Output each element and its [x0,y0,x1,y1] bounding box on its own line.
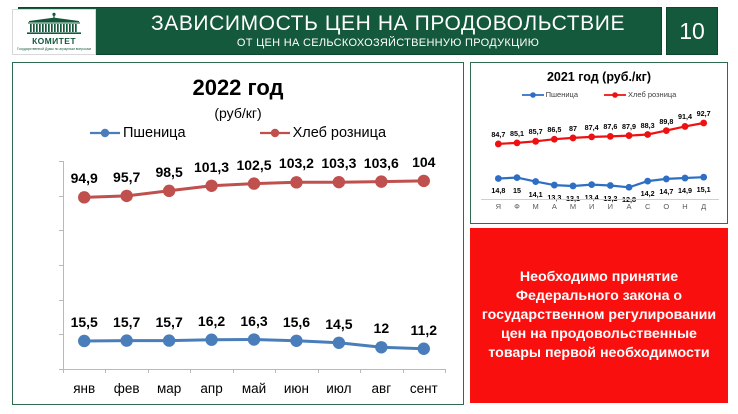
x-axis-tick [105,369,106,373]
government-building-icon [21,12,87,36]
data-label: 103,3 [321,155,356,171]
x-axis-tick [233,369,234,373]
x-axis-label: июн [284,381,309,396]
x-axis-tick [275,369,276,373]
x-axis-tick [148,369,149,373]
data-label: 92,7 [697,109,711,118]
data-label: 15,1 [697,185,711,194]
x-axis-label: А [626,202,631,211]
data-label: 14,8 [491,186,505,195]
chart-2021-title: 2021 год (руб./кг) [471,70,727,84]
y-axis-tick [59,230,63,231]
x-axis-label: июл [326,381,351,396]
legend-line-marker-icon [522,91,544,99]
data-label: 86,5 [547,125,561,134]
data-label: 15,6 [283,314,310,330]
data-label: 14,2 [641,189,655,198]
data-label: 89,8 [659,117,673,126]
data-label: 87,6 [603,122,617,131]
legend-line-marker-icon [604,91,626,99]
x-axis-tick [63,369,64,373]
chart-2021-axis-line [481,199,719,200]
data-label: 11,2 [411,322,437,338]
page-number-box: 10 [666,7,718,55]
logo-name: КОМИТЕТ [32,37,76,46]
data-label: 14,9 [678,186,692,195]
y-axis-tick [59,334,63,335]
chart-2021-series-svg [489,109,713,197]
data-label: 15 [513,186,521,195]
data-label: 15,5 [71,314,98,330]
x-axis-label: Н [682,202,687,211]
data-label: 87 [569,124,577,133]
x-axis-label: Д [701,202,706,211]
x-axis-label: авг [372,381,392,396]
data-label: 85,7 [529,127,543,136]
data-label: 103,6 [364,155,399,171]
y-axis-tick [59,300,63,301]
data-label: 16,2 [198,313,225,329]
x-axis-label: Я [496,202,501,211]
data-label: 14,5 [325,316,352,332]
data-label: 13,3 [547,193,561,202]
chart-2022-plot: 15,515,715,716,216,315,614,51211,294,995… [63,161,445,369]
legend-label-wheat-2021: Пшеница [546,90,578,99]
data-label: 16,3 [240,313,267,329]
x-axis-label: И [589,202,594,211]
legend-item-bread: Хлеб розница [260,125,386,141]
legend-line-marker-icon [90,127,120,139]
x-axis-label: М [570,202,576,211]
x-axis-tick [403,369,404,373]
legend-line-marker-icon [260,127,290,139]
x-axis-tick [360,369,361,373]
page-number: 10 [679,18,705,45]
legend-item-bread-2021: Хлеб розница [604,90,676,99]
chart-2021-legend: Пшеница Хлеб розница [471,90,727,99]
x-axis-label: апр [200,381,222,396]
x-axis-tick [445,369,446,373]
data-label: 15,7 [155,314,182,330]
data-label: 103,2 [279,155,314,171]
data-label: 95,7 [113,169,140,185]
page-title: ЗАВИСИМОСТЬ ЦЕН НА ПРОДОВОЛЬСТВИЕ [151,13,625,35]
callout-box: Необходимо принятие Федерального закона … [470,228,728,403]
chart-2022-title: 2022 год [13,75,463,101]
data-label: 94,9 [71,170,98,186]
chart-2021: 2021 год (руб./кг) Пшеница Хлеб розница … [470,62,728,224]
x-axis-label: май [242,381,266,396]
x-axis-tick [318,369,319,373]
page-subtitle: ОТ ЦЕН НА СЕЛЬСКОХОЗЯЙСТВЕННУЮ ПРОДУКЦИЮ [237,37,539,49]
committee-logo: КОМИТЕТ Государственной Думы по аграрным… [12,9,96,55]
x-axis-label: С [645,202,650,211]
legend-item-wheat-2021: Пшеница [522,90,578,99]
x-axis-label: янв [73,381,95,396]
y-axis-tick [59,196,63,197]
x-axis-label: мар [157,381,181,396]
data-label: 98,5 [155,164,182,180]
logo-subtitle: Государственной Думы по аграрным вопроса… [17,47,91,51]
data-label: 15,7 [113,314,140,330]
data-label: 101,3 [194,159,229,175]
x-axis-label: А [552,202,557,211]
data-label: 84,7 [491,130,505,139]
callout-text: Необходимо принятие Федерального закона … [480,268,718,363]
y-axis-tick [59,161,63,162]
data-label: 12 [374,320,390,336]
x-axis-label: фев [114,381,140,396]
x-axis-label: сент [410,381,438,396]
x-axis-label: И [608,202,613,211]
slide-root: ЗАВИСИМОСТЬ ЦЕН НА ПРОДОВОЛЬСТВИЕ ОТ ЦЕН… [0,0,738,414]
chart-2022-subtitle: (руб/кг) [13,105,463,121]
x-axis-label: М [533,202,539,211]
chart-2022-x-categories: янвфевмарапрмайиюниюлавгсент [63,381,445,401]
data-label: 85,1 [510,129,524,138]
legend-label-bread: Хлеб розница [293,125,386,141]
data-label: 13,4 [585,193,599,202]
chart-2022-legend: Пшеница Хлеб розница [13,125,463,141]
y-axis-tick [59,265,63,266]
x-axis-label: О [663,202,669,211]
chart-2022: 2022 год (руб/кг) Пшеница Хлеб розница [12,62,464,405]
header-title-group: ЗАВИСИМОСТЬ ЦЕН НА ПРОДОВОЛЬСТВИЕ ОТ ЦЕН… [118,7,658,55]
data-label: 14,1 [529,190,543,199]
slide-header: ЗАВИСИМОСТЬ ЦЕН НА ПРОДОВОЛЬСТВИЕ ОТ ЦЕН… [0,7,738,55]
chart-2022-series-svg [63,161,445,369]
data-label: 14,7 [659,187,673,196]
data-label: 91,4 [678,112,692,121]
data-label: 102,5 [236,157,271,173]
data-label: 87,9 [622,122,636,131]
x-axis-tick [190,369,191,373]
data-label: 88,3 [641,121,655,130]
legend-label-wheat: Пшеница [123,125,186,141]
x-axis-label: Ф [514,202,520,211]
chart-2021-x-categories: ЯФМАМИИАСОНД [489,202,713,216]
x-axis-line [63,369,445,370]
data-label: 87,4 [585,123,599,132]
legend-item-wheat: Пшеница [90,125,186,141]
data-label: 104 [412,154,435,170]
legend-label-bread-2021: Хлеб розница [628,90,676,99]
chart-2021-plot: 14,81514,113,313,113,413,212,814,214,714… [489,109,713,197]
